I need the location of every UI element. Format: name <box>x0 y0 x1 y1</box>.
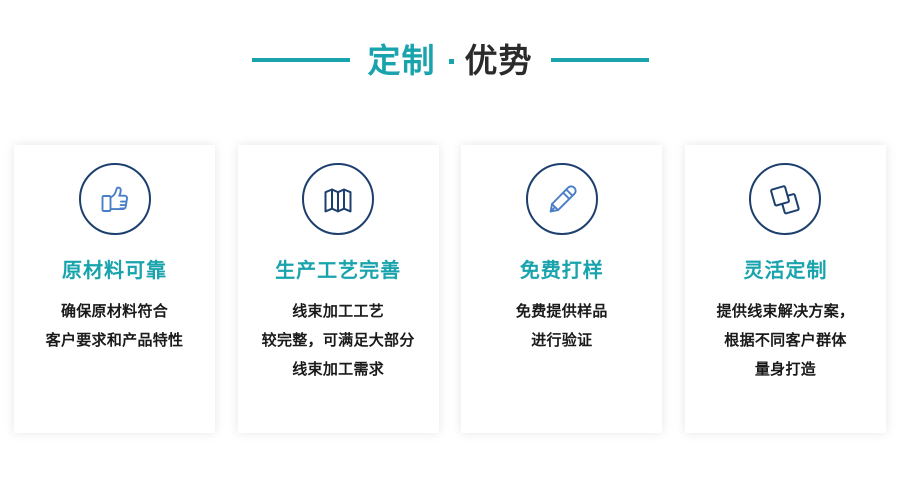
section-title: 定制 优势 <box>0 34 900 86</box>
feature-card-body: 线束加工工艺 较完整，可满足大部分 线束加工需求 <box>243 297 433 384</box>
folded-map-icon <box>302 163 374 235</box>
feature-card[interactable]: 原材料可靠 确保原材料符合 客户要求和产品特性 <box>14 145 215 433</box>
feature-card-body: 免费提供样品 进行验证 <box>467 297 657 355</box>
feature-card-title: 免费打样 <box>520 259 604 281</box>
feature-card-title: 灵活定制 <box>743 259 827 281</box>
feature-card-body-line: 较完整，可满足大部分 <box>243 326 433 355</box>
feature-card-body-line: 确保原材料符合 <box>20 297 210 326</box>
feature-card-title: 生产工艺完善 <box>275 259 401 281</box>
title-main: 定制 <box>368 44 436 77</box>
feature-card-body: 提供线束解决方案， 根据不同客户群体 量身打造 <box>690 297 880 384</box>
feature-card-body: 确保原材料符合 客户要求和产品特性 <box>20 297 210 355</box>
feature-card-body-line: 线束加工工艺 <box>243 297 433 326</box>
title-rule-left <box>252 58 350 62</box>
title-rule-right <box>551 58 649 62</box>
thumbs-up-icon <box>79 163 151 235</box>
feature-card[interactable]: 灵活定制 提供线束解决方案， 根据不同客户群体 量身打造 <box>685 145 886 433</box>
title-text: 定制 优势 <box>368 44 533 77</box>
feature-card-body-line: 线束加工需求 <box>243 355 433 384</box>
title-separator-dot <box>449 59 454 64</box>
feature-card-body-line: 提供线束解决方案， <box>690 297 880 326</box>
feature-card-body-line: 量身打造 <box>690 355 880 384</box>
feature-card[interactable]: 生产工艺完善 线束加工工艺 较完整，可满足大部分 线束加工需求 <box>238 145 439 433</box>
feature-card-title: 原材料可靠 <box>62 259 167 281</box>
feature-card-body-line: 免费提供样品 <box>467 297 657 326</box>
feature-card-body-line: 根据不同客户群体 <box>690 326 880 355</box>
feature-card-body-line: 进行验证 <box>467 326 657 355</box>
feature-card-list: 原材料可靠 确保原材料符合 客户要求和产品特性 生产工艺完善 线束加工工艺 较完… <box>14 145 886 433</box>
title-sub: 优势 <box>465 44 533 77</box>
stacked-sheets-icon <box>749 163 821 235</box>
feature-card-body-line: 客户要求和产品特性 <box>20 326 210 355</box>
pencil-icon <box>526 163 598 235</box>
feature-card[interactable]: 免费打样 免费提供样品 进行验证 <box>461 145 662 433</box>
